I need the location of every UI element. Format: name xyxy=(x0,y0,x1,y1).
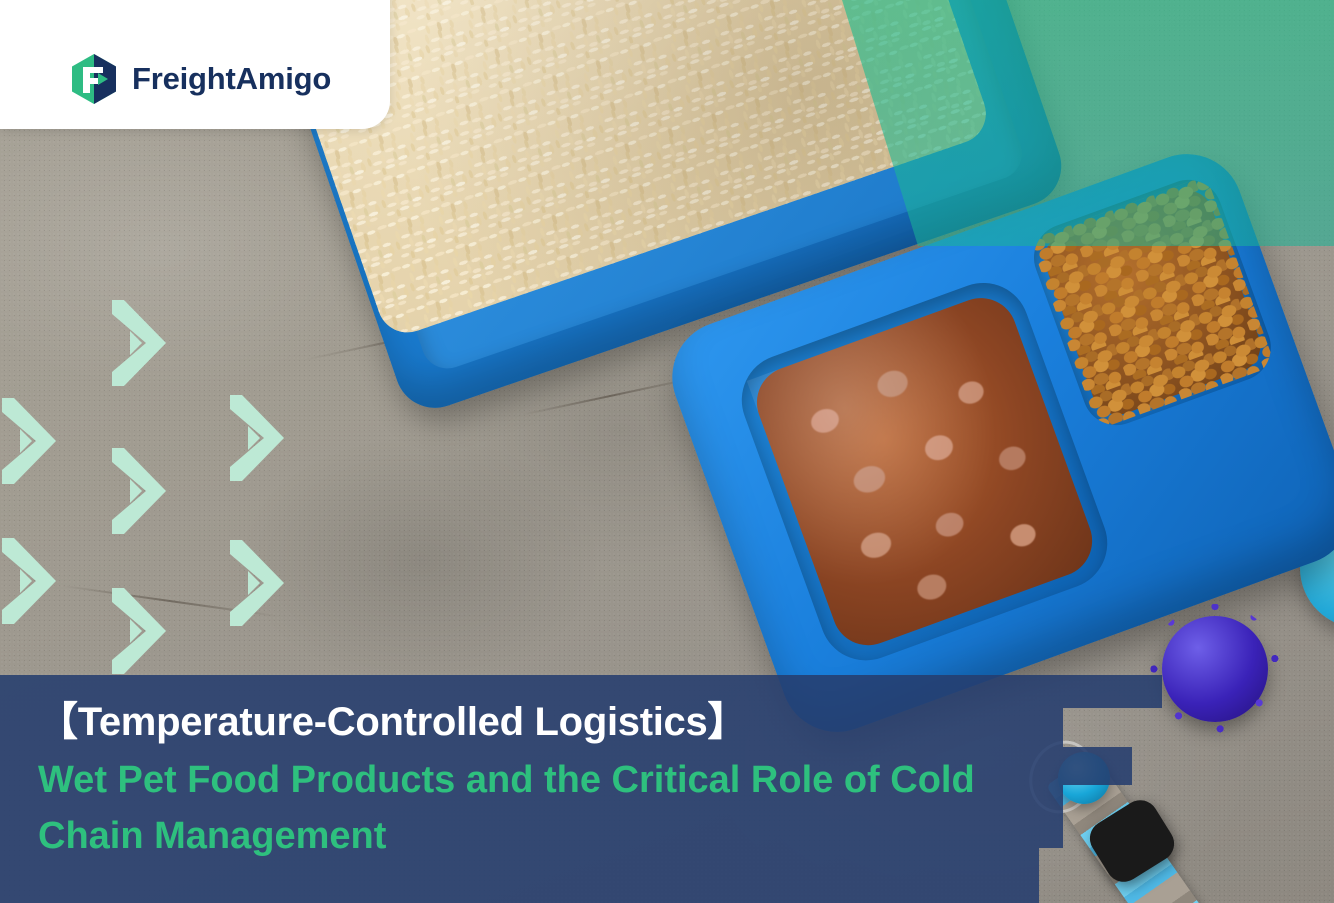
brand-logo-card: FreightAmigo xyxy=(0,0,390,129)
hero-title: 【Temperature-Controlled Logistics】 xyxy=(38,699,1165,746)
freightamigo-hexagon-logo-icon xyxy=(70,53,118,105)
hero-subtitle: Wet Pet Food Products and the Critical R… xyxy=(38,752,1028,864)
chevron-right-watermark-icon xyxy=(0,398,58,484)
chevron-right-watermark-icon xyxy=(228,395,286,481)
chevron-right-watermark-icon xyxy=(110,448,168,534)
brand-name: FreightAmigo xyxy=(132,61,331,97)
chevron-right-watermark-icon xyxy=(0,538,58,624)
chevron-right-watermark-icon xyxy=(110,588,168,674)
hero-banner-image: FreightAmigo 【Temperature-Controlled Log… xyxy=(0,0,1334,903)
chevron-right-watermark-icon xyxy=(228,540,286,626)
chevron-right-watermark-icon xyxy=(110,300,168,386)
title-banner: 【Temperature-Controlled Logistics】 Wet P… xyxy=(0,675,1165,903)
